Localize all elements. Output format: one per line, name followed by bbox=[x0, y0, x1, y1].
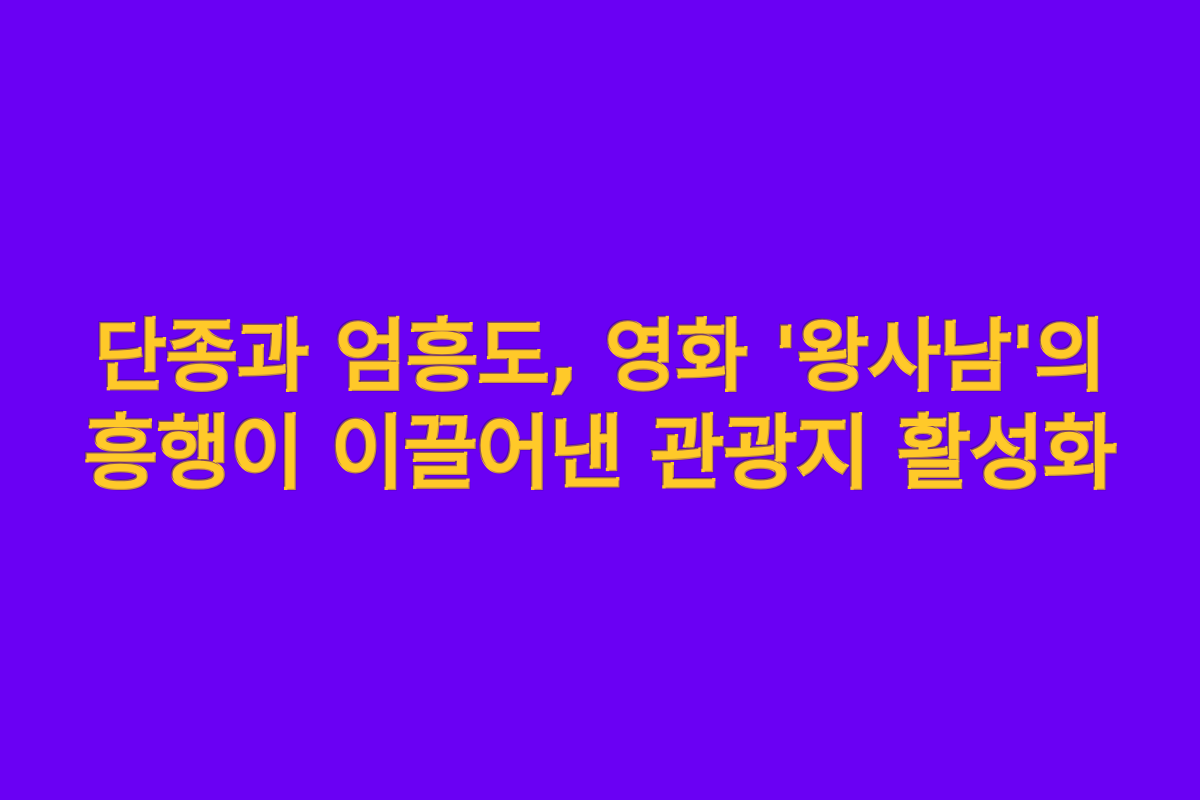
headline-block: 단종과 엄흥도, 영화 '왕사남'의 흥행이 이끌어낸 관광지 활성화 bbox=[0, 314, 1200, 499]
headline-line-1: 단종과 엄흥도, 영화 '왕사남'의 bbox=[28, 314, 1172, 401]
headline-line-2: 흥행이 이끌어낸 관광지 활성화 bbox=[28, 409, 1172, 499]
thumbnail-card: 단종과 엄흥도, 영화 '왕사남'의 흥행이 이끌어낸 관광지 활성화 bbox=[0, 0, 1200, 800]
